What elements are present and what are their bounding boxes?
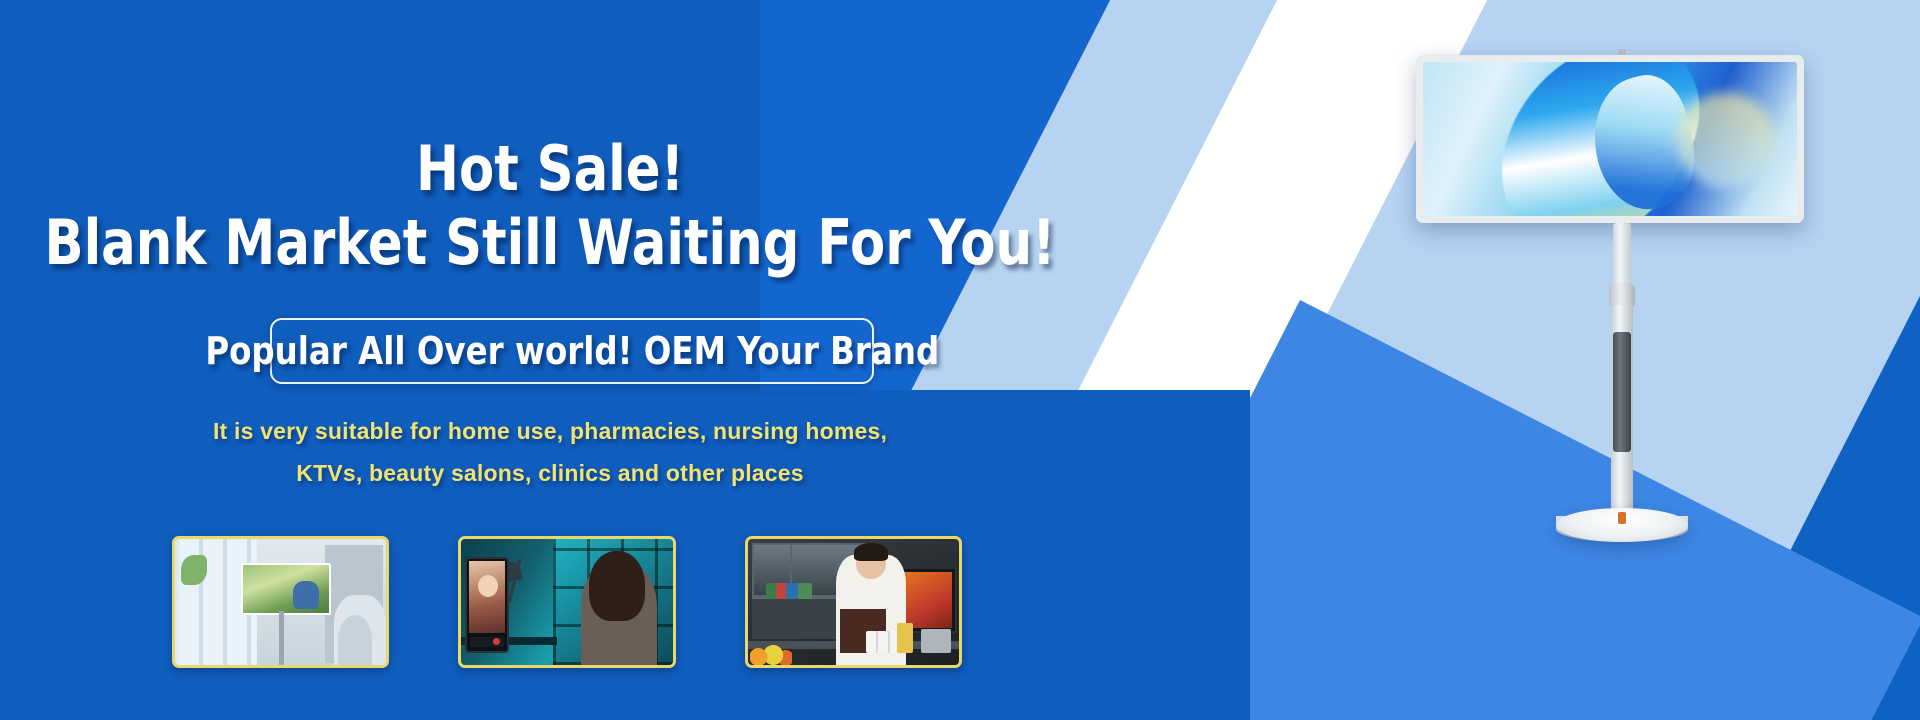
page-title: Hot Sale! Blank Market Still Waiting For… xyxy=(44,132,1056,280)
thumbnail-image-3 xyxy=(748,539,959,665)
fruit-shape xyxy=(750,645,792,665)
headline-line-1: Hot Sale! xyxy=(44,132,1056,206)
juice-jug-shape xyxy=(897,623,913,653)
bottles-shape xyxy=(766,583,812,599)
thumbnail-kitchen[interactable] xyxy=(745,536,962,668)
subtitle-line-1: It is very suitable for home use, pharma… xyxy=(0,410,1100,452)
tagline-text: Popular All Over world! OEM Your Brand xyxy=(205,329,939,373)
thumbnail-beauty-salon[interactable] xyxy=(458,536,675,668)
promotional-banner: Hot Sale! Blank Market Still Waiting For… xyxy=(0,0,1920,720)
plant-shape xyxy=(181,555,207,585)
base-accent-marker xyxy=(1618,512,1626,524)
tv-screen xyxy=(1423,62,1797,216)
vertical-screen-shape xyxy=(465,557,509,653)
thumbnail-image-1 xyxy=(175,539,386,665)
screen-content-shape xyxy=(469,561,505,633)
stand-upper-column xyxy=(1613,223,1631,289)
content-column: Hot Sale! Blank Market Still Waiting For… xyxy=(0,0,1110,720)
thumbnail-gallery xyxy=(172,536,962,666)
tagline-box: Popular All Over world! OEM Your Brand xyxy=(270,318,874,384)
headline-line-2: Blank Market Still Waiting For You! xyxy=(44,206,1056,280)
stand-grip xyxy=(1613,332,1631,452)
tv-shape xyxy=(241,563,331,615)
subtitle: It is very suitable for home use, pharma… xyxy=(0,410,1100,494)
screen-art-glow xyxy=(1677,93,1774,188)
thumbnail-nursing-home[interactable] xyxy=(172,536,389,668)
thumbnail-image-2 xyxy=(461,539,672,665)
tv-frame xyxy=(1416,55,1804,223)
person-shape-hair xyxy=(589,551,645,621)
stand-pole-shape xyxy=(279,611,284,665)
pot-shape xyxy=(921,629,951,653)
subtitle-line-2: KTVs, beauty salons, clinics and other p… xyxy=(0,452,1100,494)
person-shape-2 xyxy=(338,615,372,665)
product-image xyxy=(1402,0,1842,720)
person-shape-hair xyxy=(854,543,888,561)
